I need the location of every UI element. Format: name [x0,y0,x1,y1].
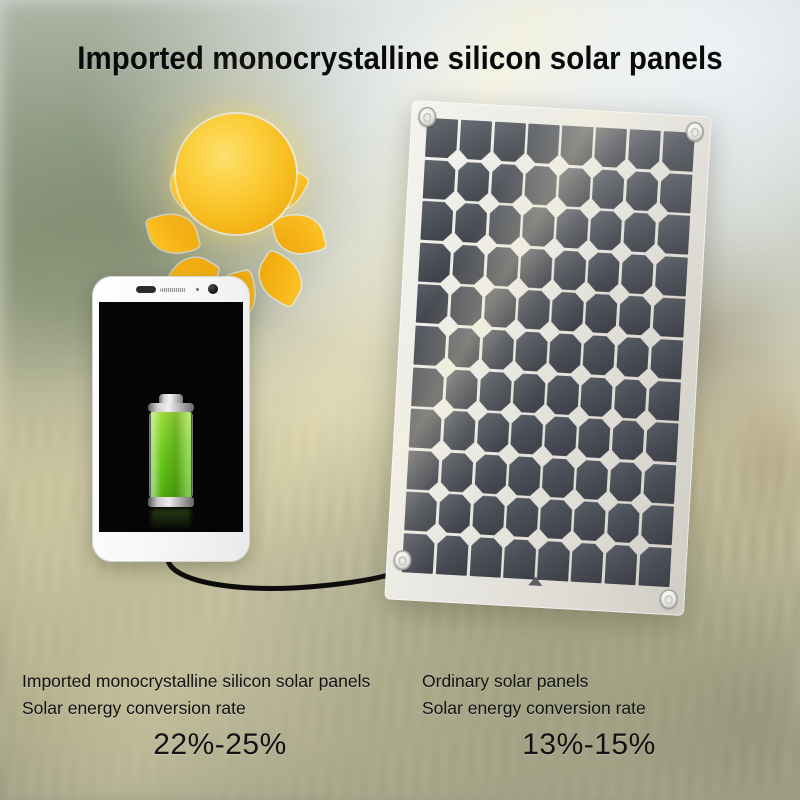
solar-cell [454,203,487,244]
imported-rate-value: 22%-25% [22,728,382,762]
solar-cell [571,543,604,584]
solar-cell [409,409,442,450]
phone-camera-icon [208,284,218,294]
solar-cell [546,375,579,416]
solar-cell [483,288,516,329]
solar-cell [573,501,606,542]
phone-bottom-bezel [92,532,250,562]
solar-cell [614,378,647,419]
phone-top-bezel [92,276,250,302]
solar-cell [418,242,451,283]
solar-cell [640,505,673,546]
solar-cell [551,292,584,333]
solar-cell [443,410,476,451]
solar-cell [411,367,444,408]
solar-cell [515,331,548,372]
solar-cell [589,210,622,251]
solar-cell [611,420,644,461]
solar-cell [616,337,649,378]
solar-cell [517,290,550,331]
battery-base [148,497,194,507]
solar-cell [585,293,618,334]
solar-cell [420,201,453,242]
sun-core [176,114,296,234]
solar-cell [628,129,661,170]
solar-cell [537,541,570,582]
solar-cell [447,327,480,368]
solar-cell [625,171,658,212]
solar-cell [544,416,577,457]
battery-icon: 30% [148,394,194,532]
solar-cell [436,535,469,576]
solar-cell [645,422,678,463]
solar-cell [592,169,625,210]
solar-cell [555,208,588,249]
comparison-section: Imported monocrystalline silicon solar p… [0,668,800,762]
sun-icon [150,88,322,260]
solar-cell [488,205,521,246]
solar-cell [481,329,514,370]
battery-fill [151,412,191,498]
solar-cell [440,452,473,493]
solar-cell [560,125,593,166]
solar-cell [479,371,512,412]
imported-line-2: Solar energy conversion rate [22,695,382,722]
solar-cell [469,537,502,578]
solar-cell [503,539,536,580]
imported-line-1: Imported monocrystalline silicon solar p… [22,668,382,695]
solar-cell [456,161,489,202]
solar-cell [510,414,543,455]
solar-cell [490,163,523,204]
solar-cell [459,120,492,161]
solar-cell [423,159,456,200]
panel-bottom-notch [528,576,542,586]
solar-cell [406,450,439,491]
solar-cell [486,246,519,287]
solar-cell [587,252,620,293]
solar-cell [505,497,538,538]
smartphone-icon: 30% [92,276,250,562]
solar-cell [654,256,687,297]
solar-cell [609,461,642,502]
solar-cell [650,339,683,380]
solar-cell [548,333,581,374]
solar-cell [519,248,552,289]
ordinary-line-2: Solar energy conversion rate [422,695,782,722]
battery-collar [148,403,194,412]
solar-cell [539,499,572,540]
battery-reflection [151,509,191,532]
solar-cell [438,493,471,534]
ordinary-rate-value: 13%-15% [422,728,782,762]
solar-cell [638,546,671,587]
solar-cell [618,295,651,336]
solar-cell [607,503,640,544]
solar-cell [647,380,680,421]
solar-cell [508,456,541,497]
ordinary-line-1: Ordinary solar panels [422,668,782,695]
solar-cell [476,412,509,453]
page-title: Imported monocrystalline silicon solar p… [32,40,768,77]
solar-cell [450,286,483,327]
solar-cell [413,326,446,367]
solar-cell [404,492,437,533]
solar-cell [657,214,690,255]
solar-cell [582,335,615,376]
solar-cell [512,373,545,414]
comparison-column-imported: Imported monocrystalline silicon solar p… [0,668,400,762]
solar-cell [594,127,627,168]
battery-body [149,412,193,498]
solar-cell [522,207,555,248]
solar-cell [659,173,692,214]
phone-sensor-icon [196,288,199,291]
solar-cell [472,495,505,536]
solar-cell [575,460,608,501]
solar-cell [652,297,685,338]
phone-earpiece-icon [136,286,156,293]
solar-cell [416,284,449,325]
solar-cell [643,463,676,504]
solar-cell [553,250,586,291]
comparison-column-ordinary: Ordinary solar panels Solar energy conve… [400,668,800,762]
solar-cell [578,418,611,459]
phone-speaker-grille-icon [160,288,186,292]
solar-cell [623,212,656,253]
solar-cell [580,376,613,417]
solar-cell [452,244,485,285]
solar-cell [524,165,557,206]
solar-panel-cell-grid [402,118,695,587]
phone-screen: 30% [99,302,243,532]
solar-panel-icon [384,100,711,616]
solar-cell [541,458,574,499]
solar-cell [621,254,654,295]
solar-cell [558,167,591,208]
solar-cell [526,124,559,165]
solar-cell [474,454,507,495]
solar-cell [445,369,478,410]
solar-cell [493,122,526,163]
solar-cell [604,544,637,585]
product-ad-scene: Imported monocrystalline silicon solar p… [0,0,800,800]
